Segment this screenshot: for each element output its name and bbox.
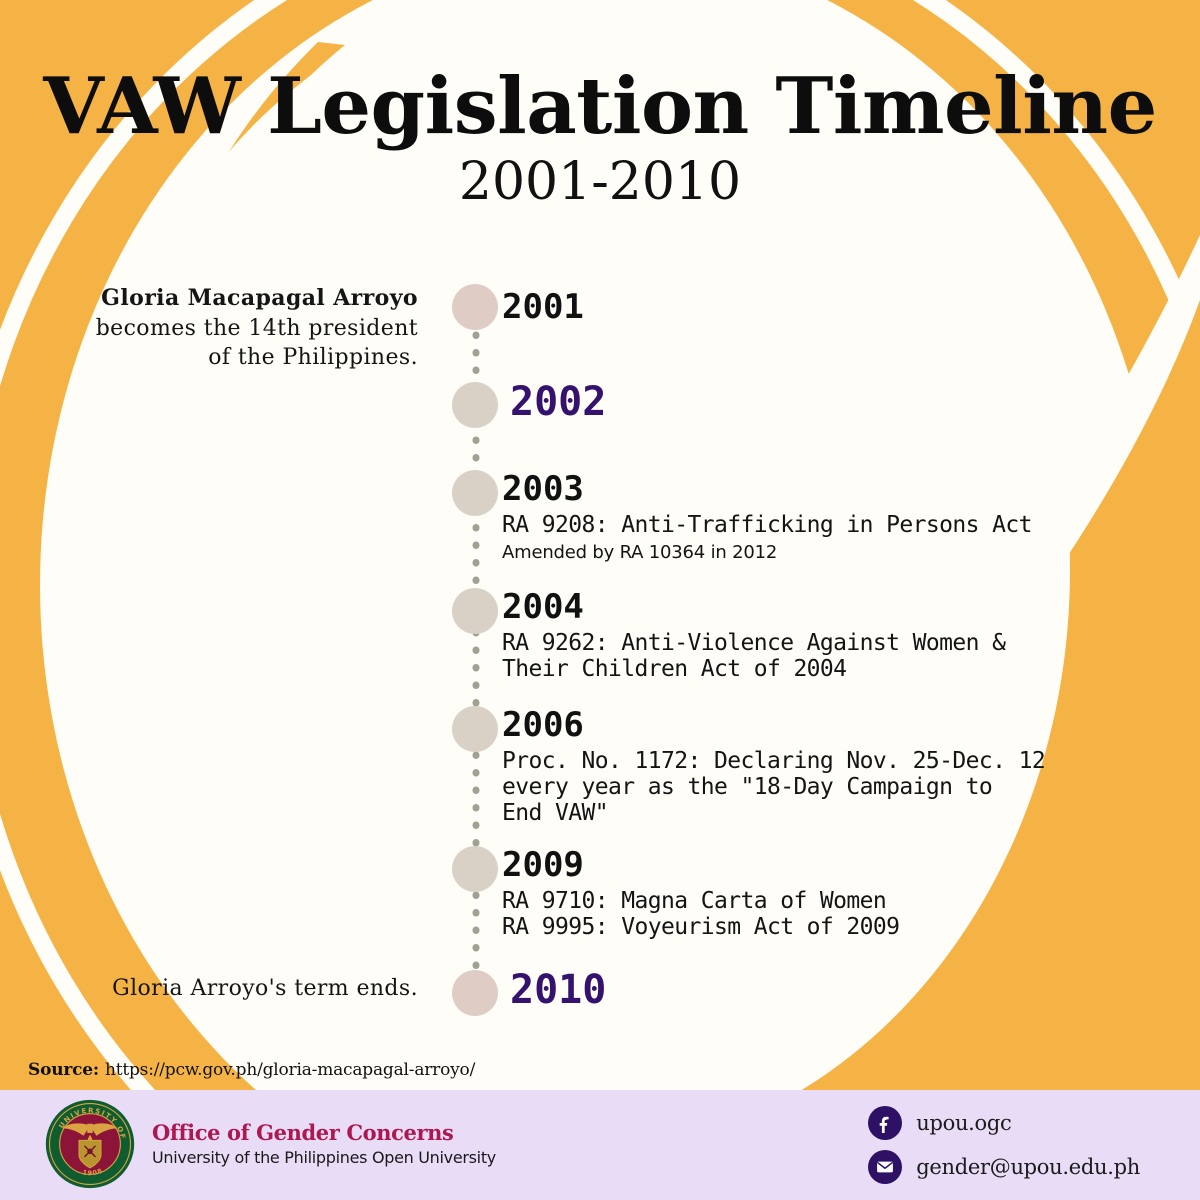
timeline-content: 2010 [502, 970, 1142, 1010]
timeline-description: RA 9208: Anti-Trafficking in Persons Act [502, 513, 1142, 539]
timeline-dot [452, 284, 498, 330]
footer-branding: UNIVERSITY OF THE PHILIPPINES 1908 Offic… [44, 1098, 496, 1190]
footer-org-block: Office of Gender Concerns University of … [152, 1120, 496, 1169]
email-icon[interactable] [868, 1150, 902, 1184]
president-name: Gloria Macapagal Arroyo [101, 285, 418, 311]
timeline-year: 2010 [502, 970, 1142, 1010]
social-links: upou.ogc gender@upou.edu.ph [868, 1106, 1140, 1184]
timeline-content: 2006 Proc. No. 1172: Declaring Nov. 25-D… [502, 708, 1142, 826]
org-name: Office of Gender Concerns [152, 1120, 496, 1145]
timeline-year: 2006 [502, 708, 1142, 742]
timeline-year: 2002 [502, 382, 1142, 422]
timeline-dot [452, 706, 498, 752]
timeline-description: RA 9262: Anti-Violence Against Women & T… [502, 631, 1142, 683]
timeline-year: 2003 [502, 472, 1142, 506]
timeline-left-note: Gloria Macapagal Arroyo becomes the 14th… [88, 284, 418, 373]
footer-bar: UNIVERSITY OF THE PHILIPPINES 1908 Offic… [0, 1090, 1200, 1200]
timeline-dot [452, 382, 498, 428]
source-url: https://pcw.gov.ph/gloria-macapagal-arro… [105, 1060, 475, 1080]
social-facebook[interactable]: upou.ogc [868, 1106, 1140, 1140]
president-note-rest: becomes the 14th president of the Philip… [96, 316, 418, 371]
timeline-content: 2004 RA 9262: Anti-Violence Against Wome… [502, 590, 1142, 683]
timeline-description: Proc. No. 1172: Declaring Nov. 25-Dec. 1… [502, 749, 1142, 826]
timeline-left-note: Gloria Arroyo's term ends. [88, 974, 418, 1004]
org-subtitle: University of the Philippines Open Unive… [152, 1148, 496, 1169]
timeline-content: 2001 [502, 290, 1142, 324]
timeline-dot [452, 970, 498, 1016]
timeline-content: 2002 [502, 382, 1142, 422]
facebook-icon[interactable] [868, 1106, 902, 1140]
timeline-content: 2003 RA 9208: Anti-Trafficking in Person… [502, 472, 1142, 563]
social-email[interactable]: gender@upou.edu.ph [868, 1150, 1140, 1184]
email-address[interactable]: gender@upou.edu.ph [916, 1155, 1140, 1179]
poster-header: VAW Legislation Timeline 2001-2010 [0, 68, 1200, 211]
timeline-content: 2009 RA 9710: Magna Carta of Women RA 99… [502, 848, 1142, 941]
source-label: Source: [28, 1060, 99, 1080]
page-title: VAW Legislation Timeline [0, 68, 1200, 146]
timeline-year: 2001 [502, 290, 1142, 324]
infographic-poster: VAW Legislation Timeline 2001-2010 Glori… [0, 0, 1200, 1200]
up-seal-logo: UNIVERSITY OF THE PHILIPPINES 1908 [44, 1098, 136, 1190]
timeline-amendment-note: Amended by RA 10364 in 2012 [502, 542, 1142, 564]
source-line: Source:https://pcw.gov.ph/gloria-macapag… [28, 1060, 475, 1080]
timeline-description: RA 9710: Magna Carta of Women RA 9995: V… [502, 889, 1142, 941]
timeline-dot [452, 588, 498, 634]
facebook-handle[interactable]: upou.ogc [916, 1111, 1011, 1135]
timeline-year: 2009 [502, 848, 1142, 882]
timeline-dot [452, 846, 498, 892]
page-subtitle: 2001-2010 [0, 154, 1200, 211]
timeline-dot [452, 470, 498, 516]
timeline-year: 2004 [502, 590, 1142, 624]
